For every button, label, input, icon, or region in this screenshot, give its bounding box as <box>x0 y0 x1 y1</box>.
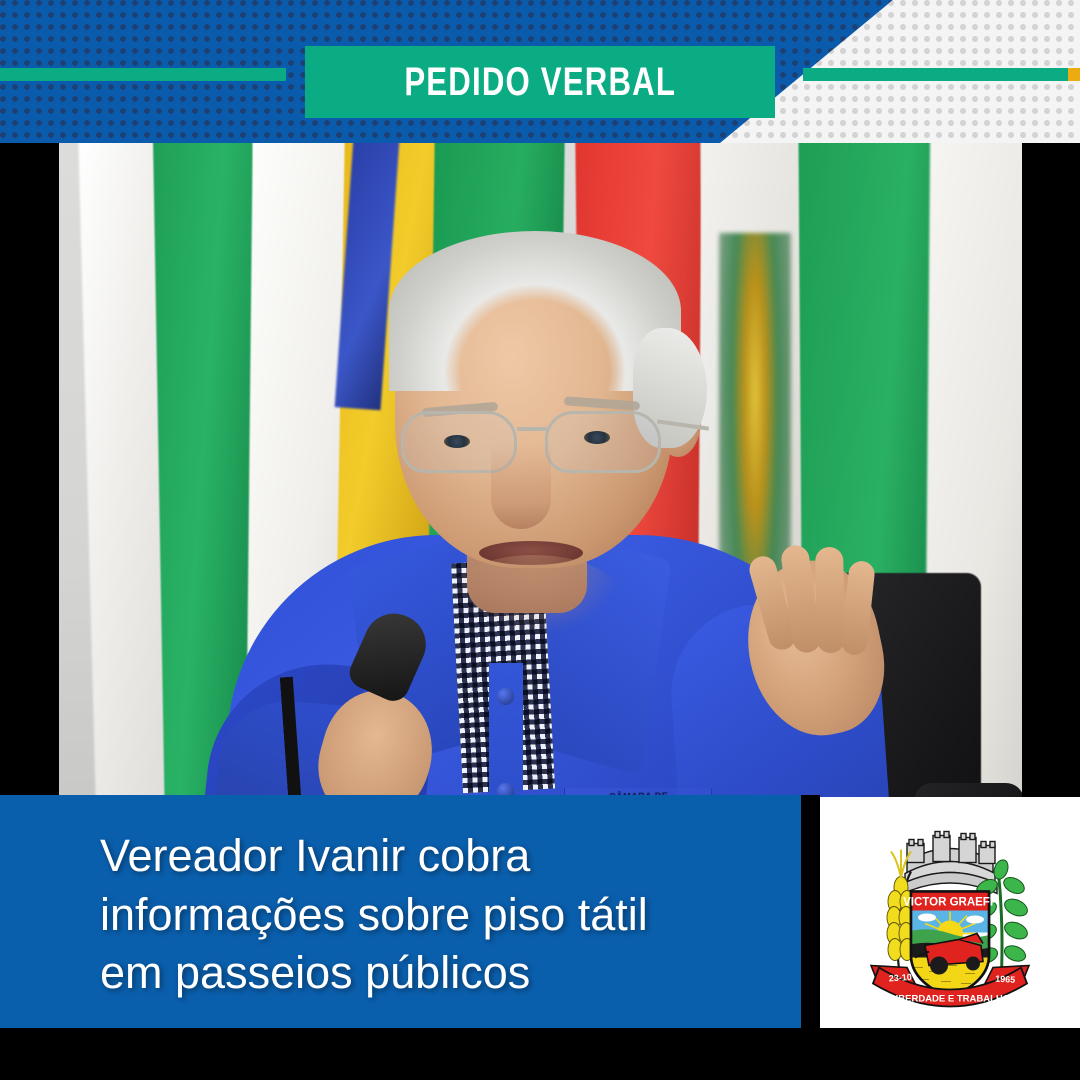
gold-bar-cap <box>1068 68 1080 81</box>
person-eye-left <box>444 435 470 448</box>
bottom-black-strip <box>0 1028 1080 1080</box>
caption-band: Vereador Ivanir cobra informações sobre … <box>0 795 801 1028</box>
coat-of-arms-victor-graeff-icon: VICTOR GRAEFF 23-10 LIBERDADE E TRABALHO… <box>855 815 1045 1010</box>
social-media-card: PEDIDO VERBAL CÂMARA DE VEREADORES <box>0 0 1080 1080</box>
header-banner: PEDIDO VERBAL <box>0 0 1080 143</box>
coat-of-arms-municipality-label: VICTOR GRAEFF <box>903 896 997 908</box>
coat-of-arms-ribbon-motto: LIBERDADE E TRABALHO <box>890 993 1010 1004</box>
teal-bar-right <box>803 68 1068 81</box>
finger <box>815 547 845 653</box>
coat-of-arms-ribbon-left: 23-10 <box>888 971 912 983</box>
logo-panel: VICTOR GRAEFF 23-10 LIBERDADE E TRABALHO… <box>820 797 1080 1028</box>
teal-bar-left <box>0 68 286 81</box>
category-badge: PEDIDO VERBAL <box>305 46 775 118</box>
caption-logo-divider <box>801 795 820 1028</box>
person-nose <box>491 443 551 529</box>
shirt-button <box>497 688 514 705</box>
person-chin <box>449 555 619 635</box>
headline: Vereador Ivanir cobra informações sobre … <box>100 827 760 1003</box>
category-badge-label: PEDIDO VERBAL <box>404 60 676 105</box>
person-eye-right <box>584 431 610 444</box>
coat-of-arms-ribbon-right: 1965 <box>995 973 1016 984</box>
glasses-bridge <box>517 427 547 431</box>
